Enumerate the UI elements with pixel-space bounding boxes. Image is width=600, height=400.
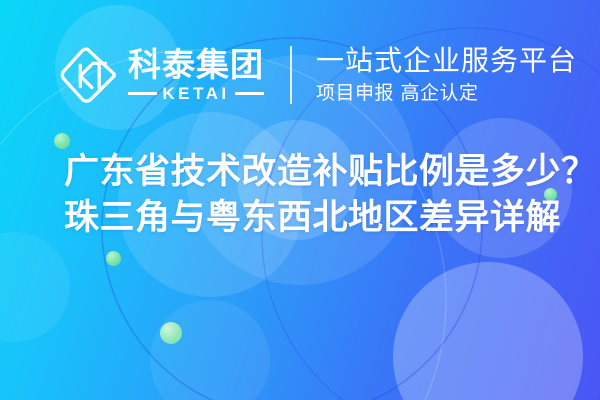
header-divider [290, 46, 292, 104]
accent-dot-bottom-center [160, 322, 182, 344]
headline-line-2: 珠三角与粤东西北地区差异详解 [64, 199, 597, 239]
headline-block: 广东省技术改造补贴比例是多少？ 珠三角与粤东西北地区差异详解 [64, 153, 597, 239]
ketai-diamond-kt-monogram-icon [58, 44, 120, 106]
brand-tagline: 一站式企业服务平台 项目申报 高企认定 [316, 45, 577, 104]
brand-wordmark: 科泰集团 KETAI [128, 48, 264, 102]
decorative-circle-8 [150, 300, 270, 400]
banner-header: 科泰集团 KETAI 一站式企业服务平台 项目申报 高企认定 [58, 44, 577, 106]
accent-dot-bottom-left [106, 251, 121, 266]
wordmark-rule-right [235, 92, 264, 95]
brand-logo[interactable]: 科泰集团 KETAI [58, 44, 264, 106]
tagline-primary: 一站式企业服务平台 [316, 45, 577, 76]
decorative-circle-7 [0, 232, 70, 342]
decorative-circle-6 [393, 262, 583, 400]
brand-name-en-row: KETAI [128, 85, 264, 102]
brand-name-cn: 科泰集团 [128, 48, 264, 81]
promo-banner: 科泰集团 KETAI 一站式企业服务平台 项目申报 高企认定 广东省技术改造补贴… [0, 0, 600, 400]
wordmark-rule-left [128, 92, 157, 95]
brand-name-en: KETAI [162, 85, 229, 102]
headline-line-1: 广东省技术改造补贴比例是多少？ [64, 153, 597, 193]
accent-dot-left [54, 133, 70, 149]
tagline-secondary: 项目申报 高企认定 [316, 82, 577, 105]
